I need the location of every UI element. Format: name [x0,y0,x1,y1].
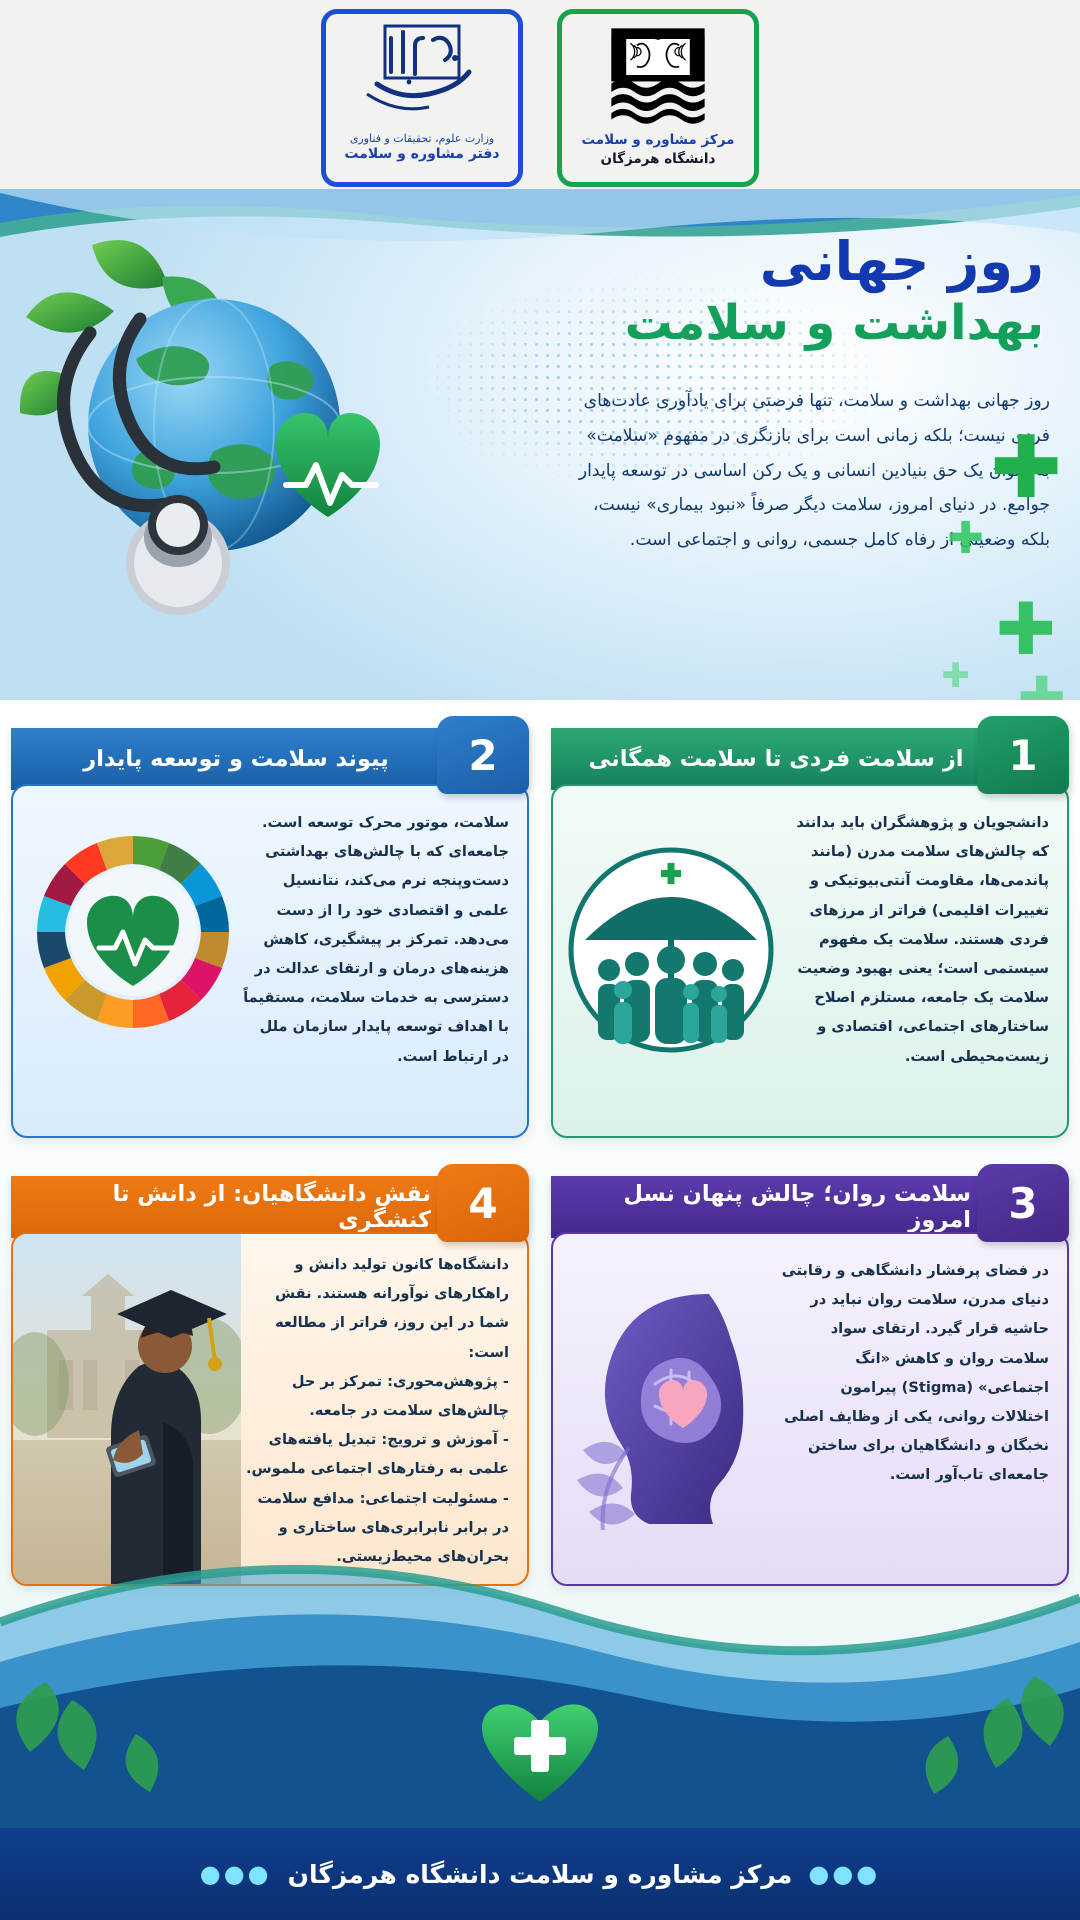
logo-left-caption-2: دانشگاه هرمزگان [582,150,735,170]
card-3-header: 3 سلامت روان؛ چالش پنهان نسل امروز [551,1176,1069,1238]
open-book-faces-icon [605,22,711,128]
header-logos: مرکز مشاوره و سلامت دانشگاه هرمزگان وزار… [0,0,1080,195]
card-2[interactable]: 2 پیوند سلامت و توسعه پایدار [11,718,529,1138]
footer-dots-right: ●●● [200,1860,272,1888]
ministry-emblem-icon [347,22,497,130]
plus-cross-icon: ✚ [996,593,1056,665]
card-2-title: پیوند سلامت و توسعه پایدار [11,728,449,790]
heart-plus-icon [476,1688,604,1808]
footer-dots-left: ●●● [808,1860,880,1888]
card-2-text: سلامت، موتور محرک توسعه است. جامعه‌ای که… [241,808,509,1071]
hero-banner: روز جهانی بهداشت و سلامت روز جهانی بهداش… [0,189,1080,709]
globe-stethoscope-art [18,237,418,657]
card-3-title: سلامت روان؛ چالش پنهان نسل امروز [551,1176,989,1238]
footer-bar: ●●● مرکز مشاوره و سلامت دانشگاه هرمزگان … [0,1828,1080,1920]
cards-grid: 1 از سلامت فردی تا سلامت همگانی [0,718,1080,1586]
plus-cross-icon: ✚ [942,659,971,693]
logo-center-counseling: مرکز مشاوره و سلامت دانشگاه هرمزگان [557,9,759,187]
card-4-header: 4 نقش دانشگاهیان: از دانش تا کنشگری [11,1176,529,1238]
infographic-page: مرکز مشاوره و سلامت دانشگاه هرمزگان وزار… [0,0,1080,1920]
card-4-number: 4 [437,1164,529,1242]
card-1-header: 1 از سلامت فردی تا سلامت همگانی [551,728,1069,790]
card-4-title: نقش دانشگاهیان: از دانش تا کنشگری [11,1176,449,1238]
card-1-title: از سلامت فردی تا سلامت همگانی [551,728,989,790]
card-2-header: 2 پیوند سلامت و توسعه پایدار [11,728,529,790]
card-2-body: سلامت، موتور محرک توسعه است. جامعه‌ای که… [11,784,529,1138]
logo-ministry-counseling: وزارت علوم، تحقیقات و فناوری دفتر مشاوره… [321,9,523,187]
hero-title: روز جهانی بهداشت و سلامت [484,231,1044,352]
card-2-number: 2 [437,716,529,794]
logo-right-caption-2: دفتر مشاوره و سلامت [344,146,499,162]
logo-right-caption-1: وزارت علوم، تحقیقات و فناوری [350,132,494,145]
card-1[interactable]: 1 از سلامت فردی تا سلامت همگانی [551,718,1069,1138]
crowd-under-umbrella-icon [565,844,777,1056]
footer-text: مرکز مشاوره و سلامت دانشگاه هرمزگان [288,1860,793,1889]
sdg-wheel-heart-icon [27,826,239,1038]
plus-cross-icon: ✚ [990,425,1062,511]
card-1-body: دانشجویان و پژوهشگران باید بدانند که چال… [551,784,1069,1138]
cards-row-1: 1 از سلامت فردی تا سلامت همگانی [0,718,1080,1138]
plus-cross-icon: ✚ [947,517,984,561]
logo-left-caption-1: مرکز مشاوره و سلامت [582,131,735,151]
card-3-number: 3 [977,1164,1069,1242]
card-1-number: 1 [977,716,1069,794]
hero-title-line1: روز جهانی [484,231,1044,293]
card-1-text: دانشجویان و پژوهشگران باید بدانند که چال… [781,808,1049,1071]
hero-title-line2: بهداشت و سلامت [484,295,1044,353]
head-brain-heart-icon [559,1280,799,1530]
card-3-text: در فضای پرفشار دانشگاهی و رقابتی دنیای م… [781,1256,1049,1490]
